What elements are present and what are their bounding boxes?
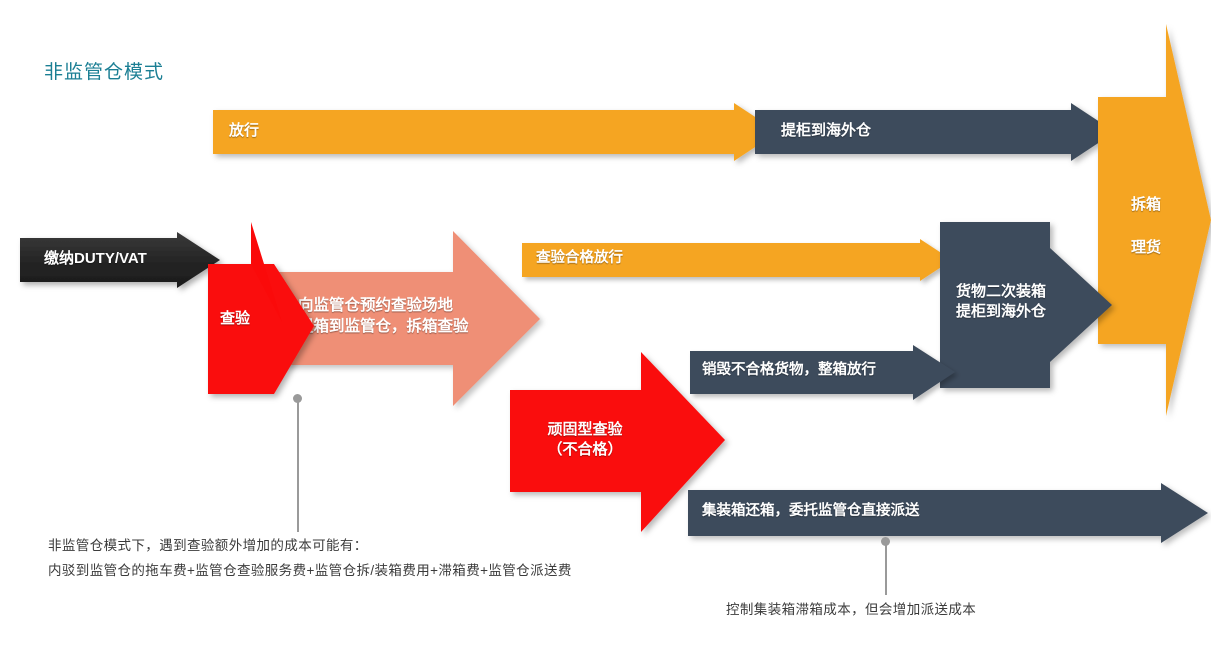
shape-destroy-nonconforming-arrow[interactable]: 销毁不合格货物，整箱放行 — [690, 345, 955, 400]
shape-release-arrow[interactable]: 放行 — [213, 103, 778, 161]
leader-stem-delivery — [885, 543, 887, 595]
shape-inspection-arrow[interactable]: 查验 — [208, 222, 348, 394]
leader-stem-inspection — [297, 400, 299, 532]
cost-note-delivery-line-1: 控制集装箱滞箱成本，但会增加派送成本 — [726, 598, 976, 623]
cost-note-inspection: 非监管仓模式下，遇到查验额外增加的成本可能有： 内驳到监管仓的拖车费+监管仓查验… — [48, 534, 572, 584]
shape-pay-duty-vat-arrow[interactable]: 缴纳DUTY/VAT — [20, 232, 220, 288]
shape-container-return-arrow[interactable]: 集装箱还箱，委托监管仓直接派送 — [688, 483, 1208, 543]
cost-note-inspection-line-1: 非监管仓模式下，遇到查验额外增加的成本可能有： — [48, 534, 572, 559]
cost-note-delivery: 控制集装箱滞箱成本，但会增加派送成本 — [726, 598, 976, 623]
shape-second-packing-arrow[interactable]: 货物二次装箱 提柜到海外仓 — [940, 222, 1112, 388]
shape-pickup-overseas-arrow[interactable]: 提柜到海外仓 — [755, 103, 1115, 161]
cost-note-inspection-line-2: 内驳到监管仓的拖车费+监管仓查验服务费+监管仓拆/装箱费用+滞箱费+监管仓派送费 — [48, 559, 572, 584]
diagram-canvas: 非监管仓模式 放行 提柜到海外仓 — [0, 0, 1211, 645]
page-title: 非监管仓模式 — [44, 57, 164, 84]
shape-inspection-passed-arrow[interactable]: 查验合格放行 — [522, 239, 952, 281]
shape-unpack-sort-arrow[interactable]: 拆箱 理货 — [1098, 24, 1211, 416]
